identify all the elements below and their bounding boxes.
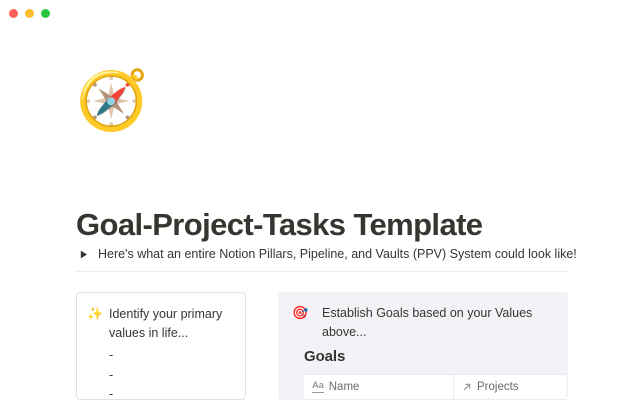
goals-database-title[interactable]: Goals: [304, 348, 568, 365]
list-item[interactable]: -: [109, 366, 233, 386]
values-callout-card[interactable]: ✨ Identify your primary values in life..…: [76, 292, 246, 400]
page-title[interactable]: Goal-Project-Tasks Template: [76, 207, 482, 243]
compass-emoji-icon[interactable]: 🧭: [76, 72, 148, 130]
minimize-window-button[interactable]: [25, 9, 34, 18]
column-gap: [246, 292, 278, 400]
table-column-header-projects-label: Projects: [477, 381, 519, 393]
values-callout-header: ✨ Identify your primary values in life..…: [87, 305, 233, 343]
section-divider: [76, 271, 568, 272]
toggle-triangle-collapsed-icon[interactable]: [76, 245, 92, 263]
two-column-block: ✨ Identify your primary values in life..…: [76, 292, 568, 400]
page-content: 🧭 Goal-Project-Tasks Template Here's wha…: [0, 28, 640, 400]
values-bullet-list: - - -: [87, 346, 233, 400]
goals-callout-header: 🎯 Establish Goals based on your Values a…: [292, 304, 568, 342]
goals-callout-card[interactable]: 🎯 Establish Goals based on your Values a…: [278, 292, 568, 400]
sparkles-emoji-icon: ✨: [87, 305, 105, 322]
app-window: 🧭 Goal-Project-Tasks Template Here's wha…: [0, 0, 640, 400]
maximize-window-button[interactable]: [41, 9, 50, 18]
toggle-block[interactable]: Here's what an entire Notion Pillars, Pi…: [76, 245, 568, 263]
table-column-header-projects[interactable]: Projects: [454, 375, 566, 399]
title-property-icon: Aa: [312, 381, 324, 393]
table-column-header-name-label: Name: [329, 381, 360, 393]
dart-target-emoji-icon: 🎯: [292, 304, 310, 321]
close-window-button[interactable]: [9, 9, 18, 18]
goals-database-table: Aa Name Projects: [304, 374, 566, 400]
values-callout-text: Identify your primary values in life...: [109, 305, 233, 343]
window-titlebar: [0, 0, 640, 28]
goals-callout-text: Establish Goals based on your Values abo…: [322, 304, 537, 342]
table-column-header-name[interactable]: Aa Name: [304, 375, 454, 399]
list-item[interactable]: -: [109, 385, 233, 400]
relation-property-icon: [462, 382, 472, 392]
list-item[interactable]: -: [109, 346, 233, 366]
traffic-light-controls: [9, 9, 50, 18]
toggle-block-label: Here's what an entire Notion Pillars, Pi…: [98, 245, 577, 263]
